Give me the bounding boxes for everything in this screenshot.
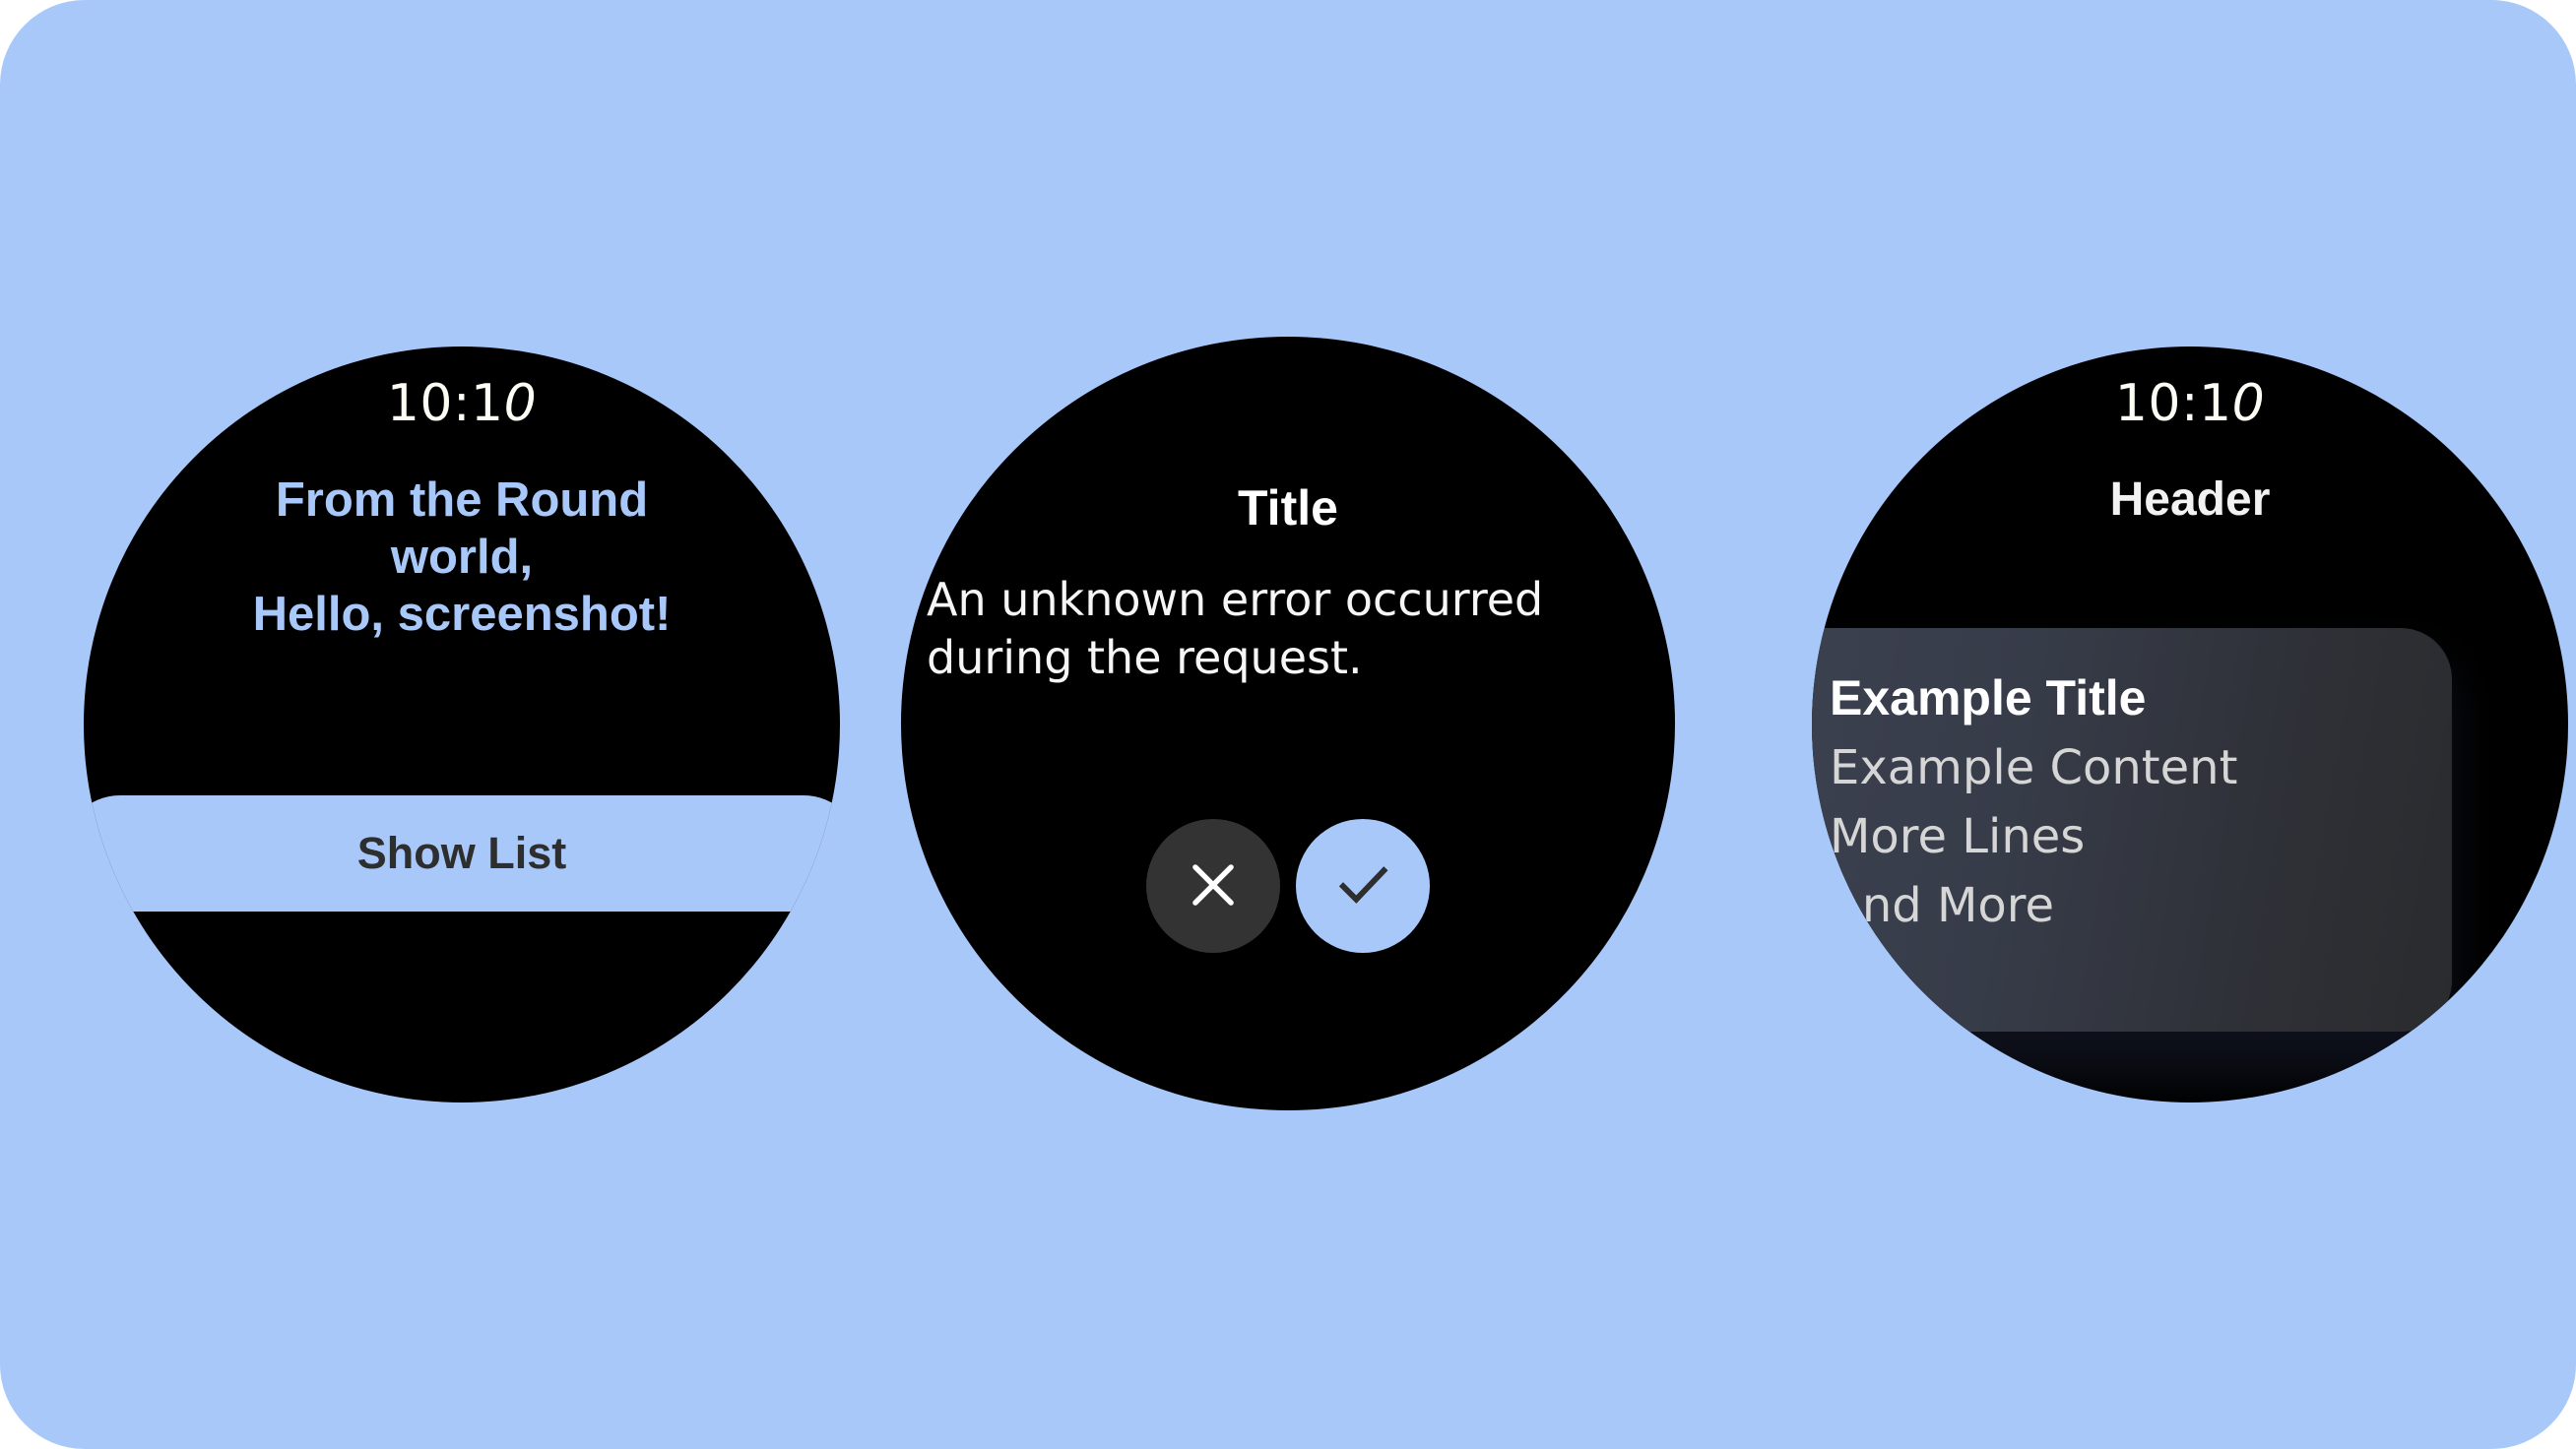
round-list-watch: 10:10 Header Example Title Example Conte… — [1812, 346, 2568, 1102]
status-time-head: 10:1 — [2115, 374, 2232, 433]
round-greeting-watch: 10:10 From the Round world, Hello, scree… — [84, 346, 840, 1102]
dialog-title: Title — [931, 479, 1645, 536]
list-item-line-3: And More — [1830, 882, 2452, 929]
dialog-message-line-1: An unknown error occurred — [927, 571, 1649, 629]
status-time-tail: 0 — [504, 374, 538, 433]
greeting-line-3: Hello, screenshot! — [129, 587, 795, 644]
show-list-button-wrap: Show List — [84, 795, 840, 912]
confirm-button[interactable] — [1296, 819, 1430, 953]
list-item-title: Example Title — [1830, 673, 2452, 723]
status-time: 10:10 — [1812, 374, 2568, 433]
dialog-message-line-2: during the request. — [927, 629, 1649, 687]
screenshot-canvas: 10:10 From the Round world, Hello, scree… — [0, 0, 2576, 1449]
screen-header: Header — [1832, 472, 2548, 527]
list-item-line-2: More Lines — [1830, 813, 2452, 860]
show-list-button[interactable]: Show List — [84, 795, 840, 912]
greeting-line-1: From the Round — [129, 472, 795, 530]
round-alert-dialog-watch: 10:10 Title An unknown error occurred du… — [901, 337, 1675, 1110]
close-icon — [1183, 854, 1244, 918]
list-item[interactable]: Example Title Example Content More Lines… — [1812, 628, 2452, 1032]
check-icon — [1331, 853, 1394, 919]
dialog-actions — [901, 819, 1675, 953]
status-time-head: 10:1 — [387, 374, 504, 433]
greeting-text: From the Round world, Hello, screenshot! — [129, 472, 795, 643]
greeting-line-2: world, — [129, 530, 795, 587]
status-time-tail: 0 — [2232, 374, 2266, 433]
dismiss-button[interactable] — [1146, 819, 1280, 953]
status-time: 10:10 — [84, 374, 840, 433]
list-item-line-1: Example Content — [1830, 744, 2452, 791]
dialog-message: An unknown error occurred during the req… — [927, 571, 1649, 687]
